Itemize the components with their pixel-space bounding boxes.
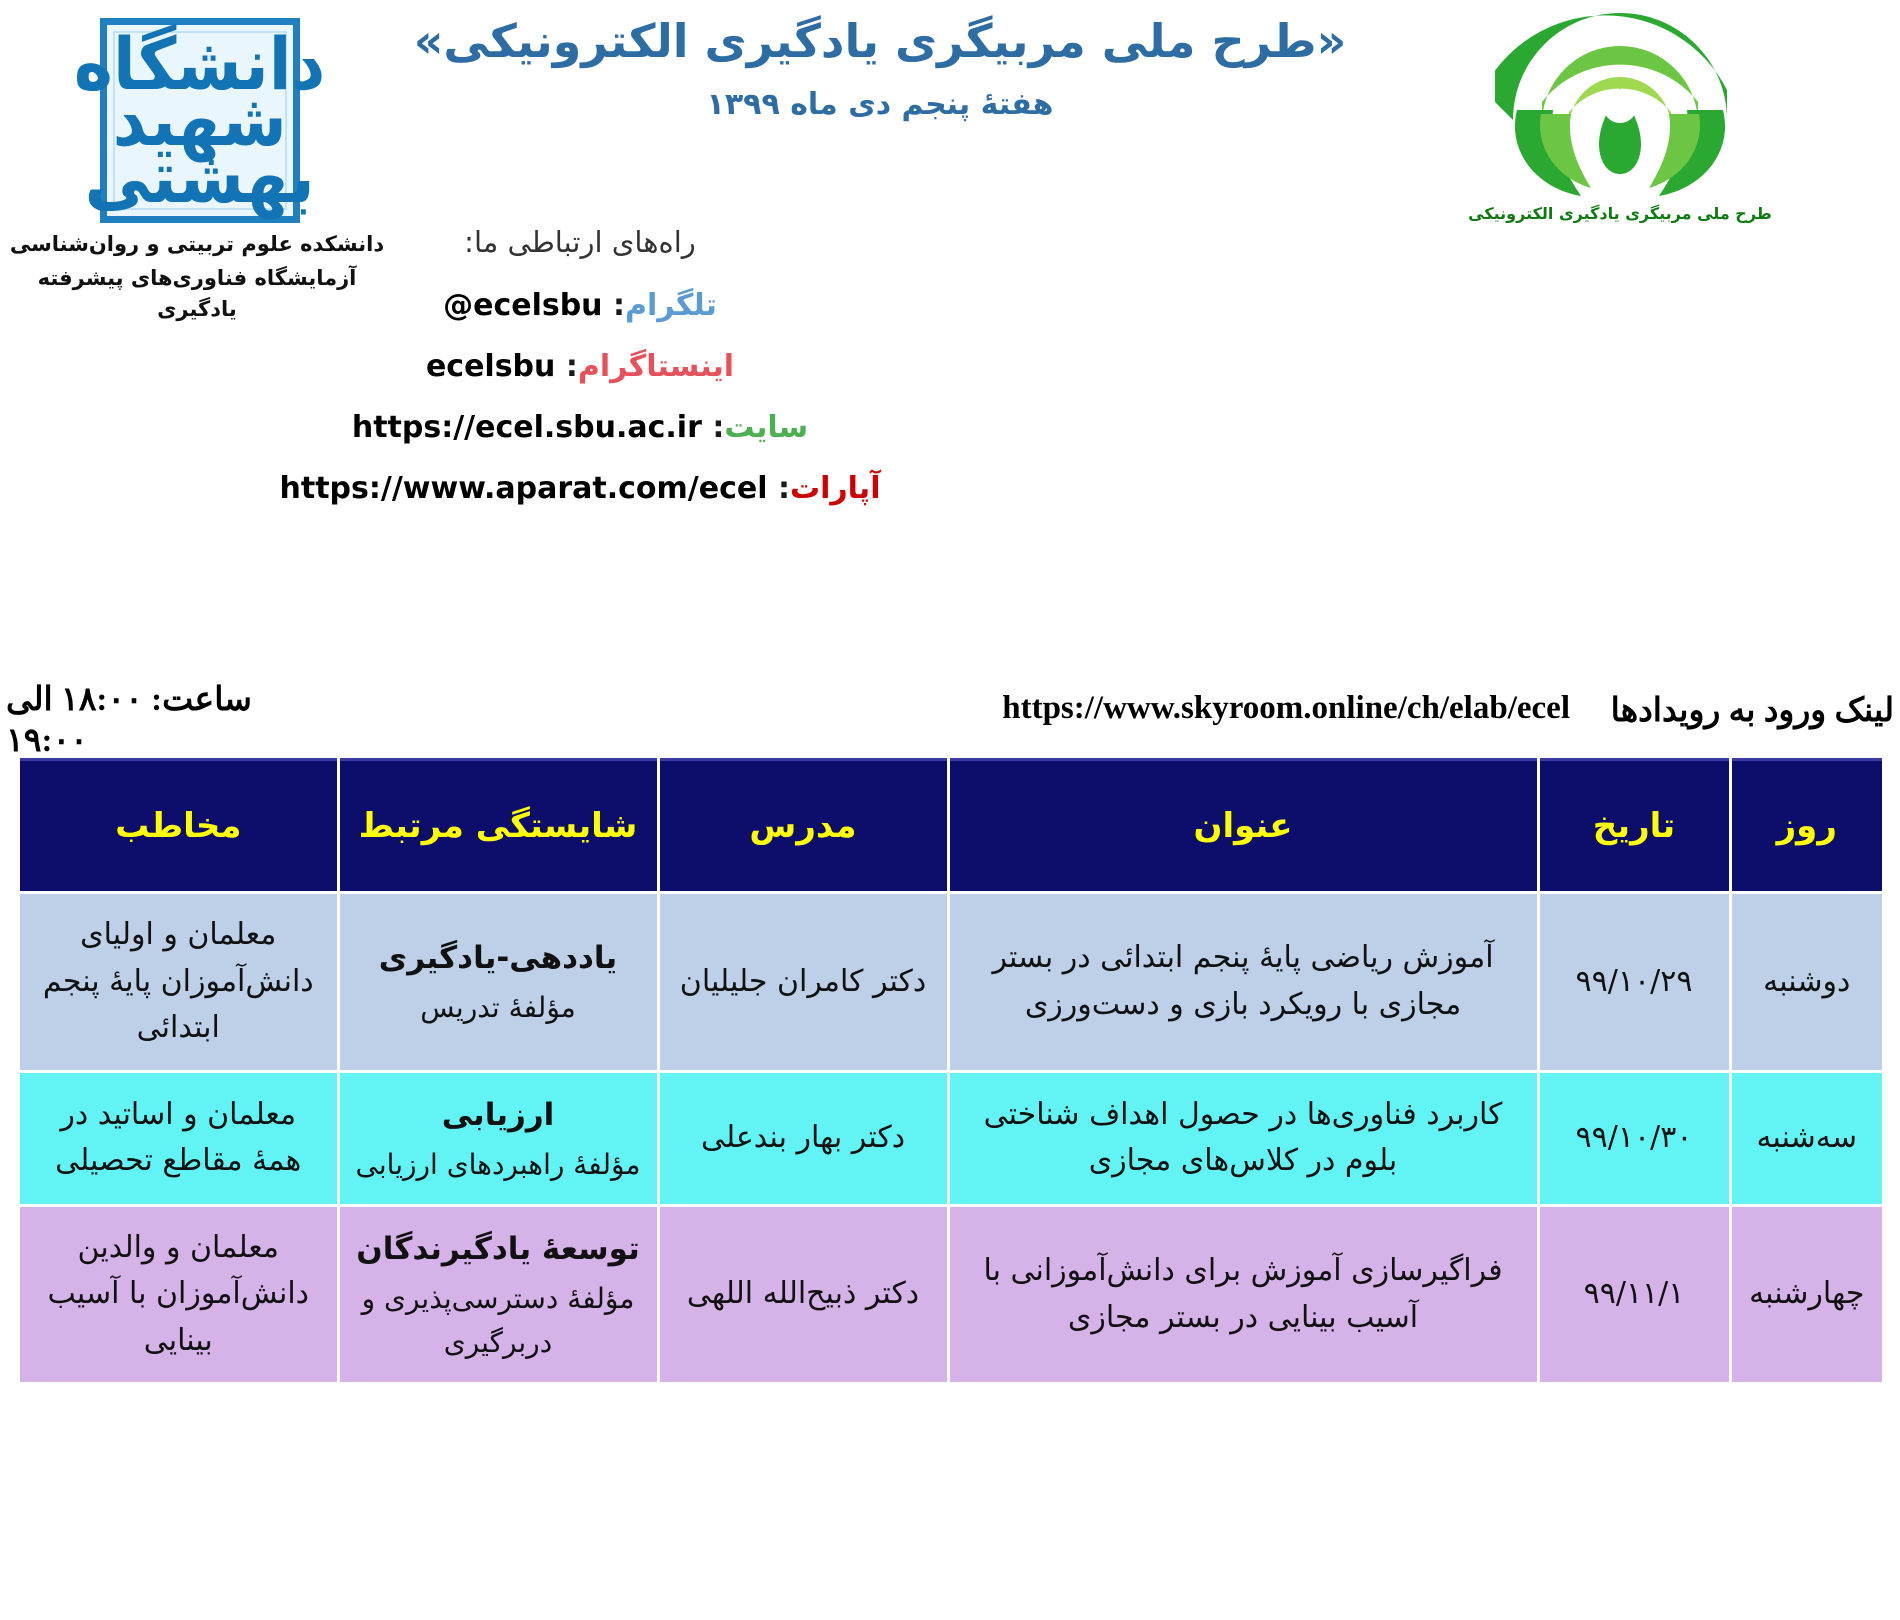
instagram-value[interactable]: ecelsbu <box>426 352 555 382</box>
competency-sub: مؤلفهٔ راهبردهای ارزیابی <box>354 1143 643 1186</box>
header-teacher: مدرس <box>658 760 948 893</box>
header-day: روز <box>1730 760 1882 893</box>
cell-competency: یاددهی-یادگیری مؤلفهٔ تدریس <box>338 893 658 1072</box>
table-row: چهارشنبه ۹۹/۱۱/۱ فراگیرسازی آموزش برای د… <box>20 1205 1882 1384</box>
table-header-row: روز تاریخ عنوان مدرس شایستگی مرتبط مخاطب <box>20 760 1882 893</box>
cell-audience: معلمان و اساتید در همهٔ مقاطع تحصیلی <box>20 1071 338 1205</box>
header-date: تاریخ <box>1538 760 1730 893</box>
entry-link-label: لینک ورود به رویدادها <box>1611 690 1894 730</box>
aparat-label: آپارات <box>790 471 881 506</box>
ecel-logo-caption: طرح ملی مربیگری یادگیری الکترونیکی <box>1460 204 1780 223</box>
contact-block: راه‌های ارتباطی ما: تلگرام: @ecelsbu این… <box>0 228 1160 535</box>
event-link-bar: لینک ورود به رویدادها https://www.skyroo… <box>0 690 1900 750</box>
telegram-sep: : <box>613 288 625 323</box>
header-competency: شایستگی مرتبط <box>338 760 658 893</box>
session-time: ساعت: ۱۸:۰۰ الی ۱۹:۰۰ <box>6 680 252 763</box>
competency-main: یاددهی-یادگیری <box>354 934 643 982</box>
competency-sub: مؤلفهٔ تدریس <box>354 986 643 1029</box>
competency-sub: مؤلفهٔ دسترسی‌پذیری و دربرگیری <box>354 1277 643 1364</box>
session-time-value: ۱۹:۰۰ <box>6 723 88 759</box>
cell-title: آموزش ریاضی پایهٔ پنجم ابتدائی در بستر م… <box>948 893 1538 1072</box>
instagram-sep: : <box>566 349 578 384</box>
cell-day: چهارشنبه <box>1730 1205 1882 1384</box>
cell-teacher: دکتر ذبیح‌الله اللهی <box>658 1205 948 1384</box>
cell-teacher: دکتر کامران جلیلیان <box>658 893 948 1072</box>
page-subtitle: هفتهٔ پنجم دی ماه ۱۳۹۹ <box>380 87 1380 122</box>
cell-teacher: دکتر بهار بندعلی <box>658 1071 948 1205</box>
cell-competency: ارزیابی مؤلفهٔ راهبردهای ارزیابی <box>338 1071 658 1205</box>
header-audience: مخاطب <box>20 760 338 893</box>
cell-date: ۹۹/۱۰/۲۹ <box>1538 893 1730 1072</box>
title-block: «طرح ملی مربیگری یادگیری الکترونیکی» هفت… <box>380 14 1380 122</box>
contact-heading: راه‌های ارتباطی ما: <box>0 228 1160 257</box>
instagram-label: اینستاگرام <box>578 349 734 384</box>
website-sep: : <box>712 410 724 445</box>
table-row: سه‌شنبه ۹۹/۱۰/۳۰ کاربرد فناوری‌ها در حصو… <box>20 1071 1882 1205</box>
ecel-logo-block: طرح ملی مربیگری یادگیری الکترونیکی <box>1460 10 1780 223</box>
header-title: عنوان <box>948 760 1538 893</box>
cell-competency: توسعهٔ یادگیرندگان مؤلفهٔ دسترسی‌پذیری و… <box>338 1205 658 1384</box>
website-value[interactable]: https://ecel.sbu.ac.ir <box>352 413 702 443</box>
sbu-logo-calligraphy: دانشگاهشهیدبهشتی <box>74 36 325 204</box>
schedule-table-wrapper: روز تاریخ عنوان مدرس شایستگی مرتبط مخاطب… <box>20 758 1882 1385</box>
contact-row-telegram: تلگرام: @ecelsbu <box>0 291 1160 321</box>
contact-row-website: سایت: https://ecel.sbu.ac.ir <box>0 413 1160 443</box>
session-time-label: ساعت: ۱۸:۰۰ الی <box>6 682 252 718</box>
sbu-university-logo: دانشگاهشهیدبهشتی <box>100 18 300 223</box>
cell-audience: معلمان و اولیای دانش‌آموزان پایهٔ پنجم ا… <box>20 893 338 1072</box>
cell-day: سه‌شنبه <box>1730 1071 1882 1205</box>
ecel-logo <box>1495 10 1745 200</box>
contact-row-instagram: اینستاگرام: ecelsbu <box>0 352 1160 382</box>
schedule-table: روز تاریخ عنوان مدرس شایستگی مرتبط مخاطب… <box>20 758 1882 1385</box>
cell-audience: معلمان و والدین دانش‌آموزان با آسیب بینا… <box>20 1205 338 1384</box>
aparat-sep: : <box>778 471 790 506</box>
website-label: سایت <box>724 410 808 445</box>
telegram-label: تلگرام <box>625 288 717 323</box>
aparat-value[interactable]: https://www.aparat.com/ecel <box>280 474 768 504</box>
table-row: دوشنبه ۹۹/۱۰/۲۹ آموزش ریاضی پایهٔ پنجم ا… <box>20 893 1882 1072</box>
page-title: «طرح ملی مربیگری یادگیری الکترونیکی» <box>380 14 1380 69</box>
cell-date: ۹۹/۱۰/۳۰ <box>1538 1071 1730 1205</box>
cell-date: ۹۹/۱۱/۱ <box>1538 1205 1730 1384</box>
cell-title: فراگیرسازی آموزش برای دانش‌آموزانی با آس… <box>948 1205 1538 1384</box>
entry-link-url[interactable]: https://www.skyroom.online/ch/elab/ecel <box>1002 690 1570 727</box>
competency-main: ارزیابی <box>354 1091 643 1139</box>
competency-main: توسعهٔ یادگیرندگان <box>354 1225 643 1273</box>
contact-row-aparat: آپارات: https://www.aparat.com/ecel <box>0 474 1160 504</box>
cell-day: دوشنبه <box>1730 893 1882 1072</box>
cell-title: کاربرد فناوری‌ها در حصول اهداف شناختی بل… <box>948 1071 1538 1205</box>
telegram-value[interactable]: @ecelsbu <box>443 291 602 321</box>
